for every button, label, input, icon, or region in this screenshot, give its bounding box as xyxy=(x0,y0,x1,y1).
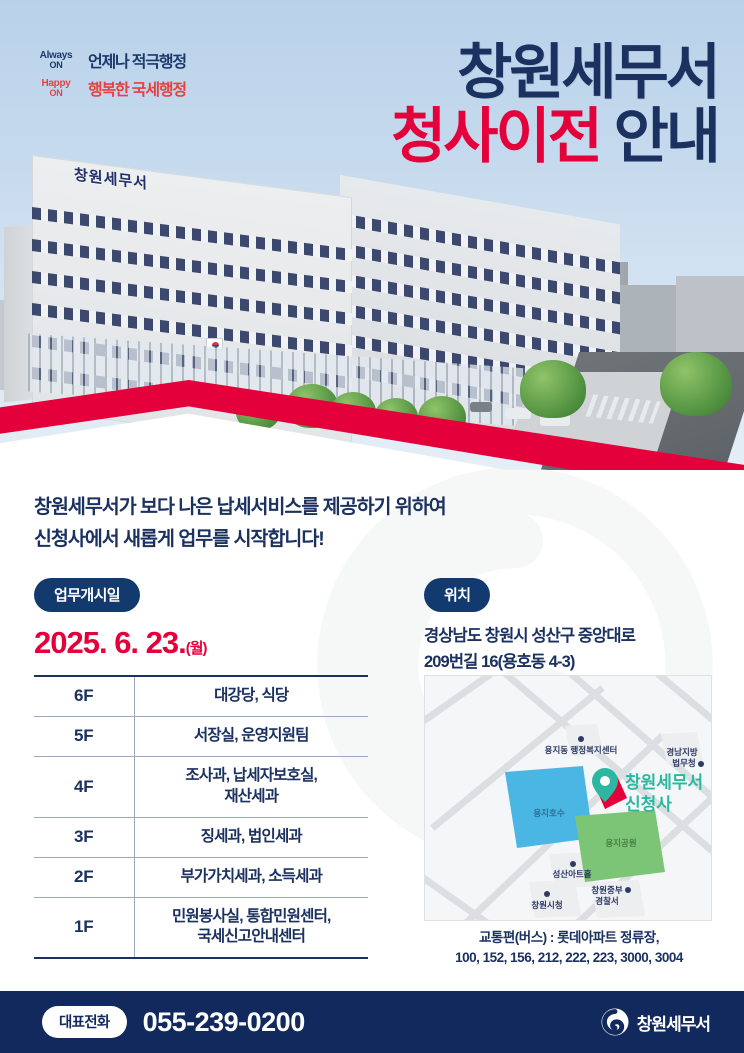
map-label: 창원중부 xyxy=(591,885,622,895)
map-label: 성산아트홀 xyxy=(552,869,591,879)
address-line-1: 경상남도 창원시 성산구 중앙대로 xyxy=(424,624,716,650)
map-graphic: 용지동 행정복지센터 경남지방 법무청 용지호수 용지공원 성산아트홀 창원시청… xyxy=(425,676,712,921)
transport-info: 교통편(버스) : 롯데아파트 정류장, 100, 152, 156, 212,… xyxy=(414,928,724,969)
lead-paragraph: 창원세무서가 보다 나은 납세서비스를 제공하기 위하여 신청사에서 새롭게 업… xyxy=(34,492,446,555)
floor-label: 4F xyxy=(34,756,134,817)
start-date-dow: (월) xyxy=(186,640,207,657)
footer-bar: 대표전화 055-239-0200 창원세무서 xyxy=(0,991,744,1053)
map-label: 경찰서 xyxy=(595,896,618,906)
map-label: 용지공원 xyxy=(605,838,636,848)
lead-line-2: 신청사에서 새롭게 업무를 시작합니다! xyxy=(34,524,446,556)
content-area: 창원세무서가 보다 나은 납세서비스를 제공하기 위하여 신청사에서 새롭게 업… xyxy=(0,470,744,985)
map-label: 경남지방 xyxy=(666,747,697,757)
transport-line-2: 100, 152, 156, 212, 222, 223, 3000, 3004 xyxy=(414,948,724,968)
map-label: 법무청 xyxy=(672,758,695,768)
table-row: 2F 부가가치세과, 소득세과 xyxy=(34,857,368,897)
slogan-en-line2: ON xyxy=(32,89,80,98)
tel-badge: 대표전화 xyxy=(42,1006,127,1038)
lead-line-1: 창원세무서가 보다 나은 납세서비스를 제공하기 위하여 xyxy=(34,492,446,524)
start-date-text: 2025. 6. 23. xyxy=(34,625,186,660)
title-line-2-red: 청사이전 xyxy=(391,103,600,170)
map-label: 용지호수 xyxy=(533,808,564,818)
tree xyxy=(660,352,732,416)
title-line-1: 창원세무서 xyxy=(391,42,718,103)
title-line-2-navy: 안내 xyxy=(614,103,718,170)
floor-directory-table: 6F 대강당, 식당 5F 서장실, 운영지원팀 4F 조사과, 납세자보호실,… xyxy=(34,675,368,959)
location-badge: 위치 xyxy=(424,578,490,612)
floor-departments: 징세과, 법인세과 xyxy=(134,817,368,857)
car xyxy=(470,402,492,412)
table-row: 5F 서장실, 운영지원팀 xyxy=(34,716,368,756)
slogan-en-line2: ON xyxy=(32,61,80,70)
table-row: 3F 징세과, 법인세과 xyxy=(34,817,368,857)
map-label: 창원시청 xyxy=(531,900,562,910)
start-date-value: 2025. 6. 23.(월) xyxy=(34,625,364,661)
start-date-badge: 업무개시일 xyxy=(34,578,140,612)
map-marker-label-2: 신청사 xyxy=(625,794,672,814)
table-row: 6F 대강당, 식당 xyxy=(34,676,368,716)
table-row: 4F 조사과, 납세자보호실,재산세과 xyxy=(34,756,368,817)
transport-line-1: 교통편(버스) : 롯데아파트 정류장, xyxy=(414,928,724,948)
slogan-kr-happy: 행복한 국세행정 xyxy=(88,76,186,100)
location-column: 위치 경상남도 창원시 성산구 중앙대로 209번길 16(용호동 4-3) xyxy=(424,578,716,675)
floor-label: 5F xyxy=(34,716,134,756)
map-label: 용지동 행정복지센터 xyxy=(545,745,618,755)
floor-label: 3F xyxy=(34,817,134,857)
floor-departments: 서장실, 운영지원팀 xyxy=(134,716,368,756)
map-marker-label-1: 창원세무서 xyxy=(625,773,703,792)
floor-departments: 조사과, 납세자보호실,재산세과 xyxy=(134,756,368,817)
floor-label: 2F xyxy=(34,857,134,897)
floor-departments: 부가가치세과, 소득세과 xyxy=(134,857,368,897)
slogan-row-happy-on: Happy ON 행복한 국세행정 xyxy=(32,76,186,100)
slogan-row-always-on: Always ON 언제나 적극행정 xyxy=(32,48,186,72)
slogan-en-always: Always ON xyxy=(32,51,80,70)
location-map[interactable]: 용지동 행정복지센터 경남지방 법무청 용지호수 용지공원 성산아트홀 창원시청… xyxy=(424,675,712,921)
tree xyxy=(520,360,586,418)
start-date-column: 업무개시일 2025. 6. 23.(월) xyxy=(34,578,364,661)
slogan-block: Always ON 언제나 적극행정 Happy ON 행복한 국세행정 xyxy=(32,48,186,104)
slogan-en-happy: Happy ON xyxy=(32,79,80,98)
floor-label: 6F xyxy=(34,676,134,716)
slogan-kr-always: 언제나 적극행정 xyxy=(88,48,186,72)
slogan-en-line1: Happy xyxy=(41,78,70,89)
poster-root: 창원세무서 Always ON 언제나 적극행정 Happy xyxy=(0,0,744,1053)
tel-number[interactable]: 055-239-0200 xyxy=(143,1007,305,1038)
title-line-2: 청사이전 안내 xyxy=(391,105,718,168)
table-row: 1F 민원봉사실, 통합민원센터,국세신고안내센터 xyxy=(34,897,368,958)
floor-departments: 민원봉사실, 통합민원센터,국세신고안내센터 xyxy=(134,897,368,958)
floor-departments: 대강당, 식당 xyxy=(134,676,368,716)
address-line-2: 209번길 16(용호동 4-3) xyxy=(424,650,716,676)
government-emblem-icon xyxy=(600,1007,630,1037)
floor-label: 1F xyxy=(34,897,134,958)
slogan-en-line1: Always xyxy=(40,50,73,61)
footer-brand: 창원세무서 xyxy=(600,1007,710,1037)
footer-brand-name: 창원세무서 xyxy=(637,1010,710,1035)
location-address: 경상남도 창원시 성산구 중앙대로 209번길 16(용호동 4-3) xyxy=(424,624,716,675)
poster-title: 창원세무서 청사이전 안내 xyxy=(391,42,718,168)
